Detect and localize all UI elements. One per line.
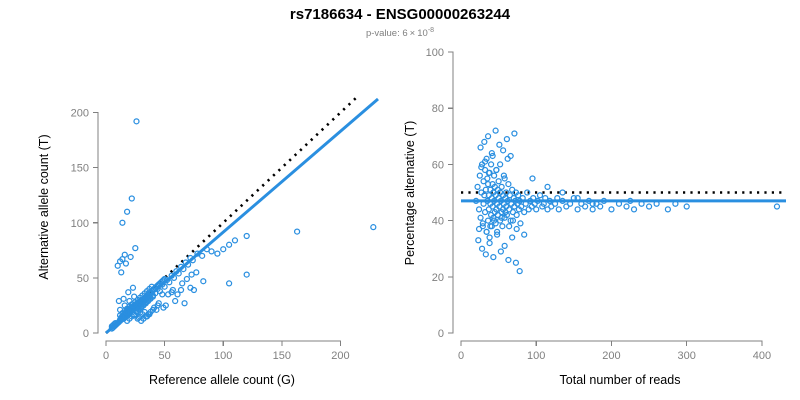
figure-canvas: rs7186634 - ENSG00000263244 p-value: 6×1… <box>0 0 800 400</box>
y-axis-tick-label: 50 <box>77 273 89 285</box>
x-axis-tick-label: 0 <box>458 350 464 362</box>
y-axis-tick-label: 40 <box>432 216 444 228</box>
x-axis-tick-label: 400 <box>753 350 771 362</box>
x-axis-tick-label: 100 <box>527 350 545 362</box>
subtitle-prefix: p-value: 6 <box>366 28 408 39</box>
y-axis-tick-label: 150 <box>71 163 89 175</box>
y-axis-tick-label: 100 <box>426 47 444 59</box>
right-y-axis-label: Percentage alternative (T) <box>403 121 417 266</box>
figure-title: rs7186634 - ENSG00000263244 <box>290 6 511 23</box>
y-axis-tick-label: 60 <box>432 159 444 171</box>
right-x-axis-label: Total number of reads <box>560 373 681 387</box>
figure-subtitle: p-value: 6×10-8 <box>366 27 434 39</box>
x-axis-tick-label: 150 <box>273 350 291 362</box>
y-axis-tick-label: 200 <box>71 108 89 120</box>
left-y-axis-label: Alternative allele count (T) <box>37 134 51 279</box>
y-axis-tick-label: 100 <box>71 218 89 230</box>
y-axis-tick-label: 20 <box>432 272 444 284</box>
y-axis-tick-label: 0 <box>83 328 89 340</box>
svg-text:p-value: 6×10-8: p-value: 6×10-8 <box>366 27 434 39</box>
x-axis-tick-label: 200 <box>602 350 620 362</box>
subtitle-exponent: -8 <box>428 27 434 34</box>
x-axis-tick-label: 100 <box>214 350 232 362</box>
y-axis-tick-label: 80 <box>432 103 444 115</box>
x-axis-tick-label: 200 <box>331 350 349 362</box>
x-axis-tick-label: 0 <box>103 350 109 362</box>
x-axis-tick-label: 300 <box>678 350 696 362</box>
subtitle-base: 10 <box>417 28 428 39</box>
subtitle-times: × <box>410 28 416 39</box>
x-axis-tick-label: 50 <box>158 350 170 362</box>
left-x-axis-label: Reference allele count (G) <box>149 373 295 387</box>
y-axis-tick-label: 0 <box>438 328 444 340</box>
